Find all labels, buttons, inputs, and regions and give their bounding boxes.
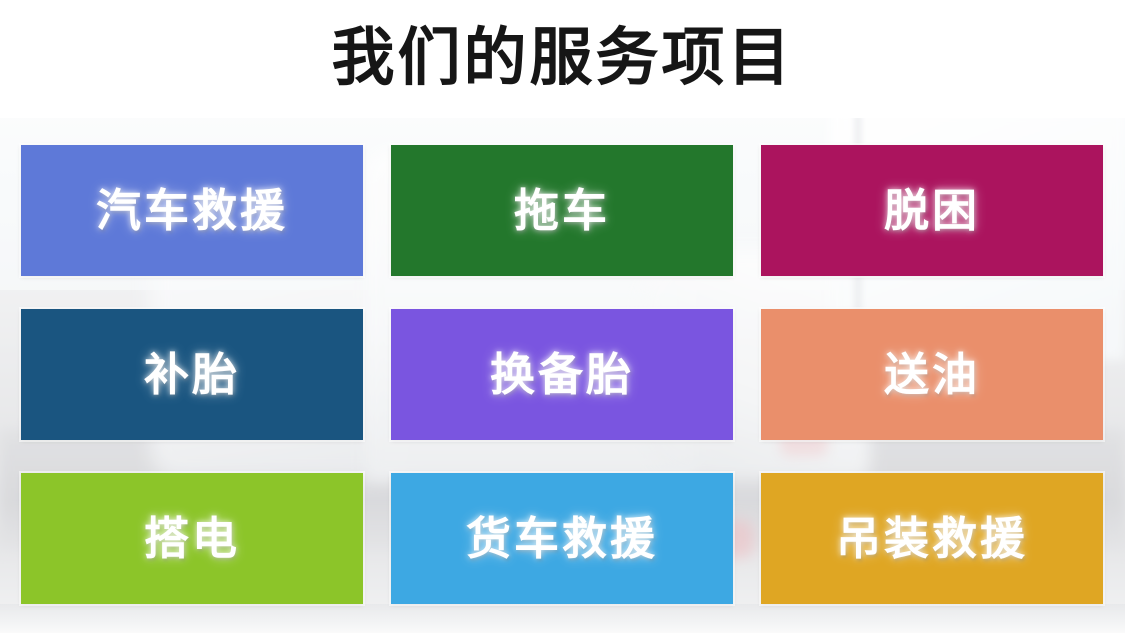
service-tile-label: 拖车	[514, 188, 610, 233]
background-bottom-strip	[0, 604, 1125, 633]
service-tile-label: 吊装救援	[836, 516, 1028, 561]
service-tile-towing[interactable]: 拖车	[391, 145, 733, 276]
service-tile-grid: 汽车救援 拖车 脱困 补胎 换备胎 送油 搭电 货车救援 吊装救援	[21, 145, 1103, 605]
service-tile-label: 货车救援	[466, 516, 658, 561]
service-tile-label: 换备胎	[490, 352, 634, 397]
service-tile-label: 汽车救援	[96, 188, 288, 233]
service-tile-spare-tire-change[interactable]: 换备胎	[391, 309, 733, 440]
page-title: 我们的服务项目	[0, 18, 1125, 98]
service-tile-jump-start[interactable]: 搭电	[21, 473, 363, 604]
service-tile-label: 搭电	[144, 516, 240, 561]
service-tile-fuel-delivery[interactable]: 送油	[761, 309, 1103, 440]
service-tile-crane-rescue[interactable]: 吊装救援	[761, 473, 1103, 604]
service-tile-label: 补胎	[144, 352, 240, 397]
service-tile-truck-rescue[interactable]: 货车救援	[391, 473, 733, 604]
service-tile-label: 送油	[884, 352, 980, 397]
service-tile-label: 脱困	[884, 188, 980, 233]
service-tile-extrication[interactable]: 脱困	[761, 145, 1103, 276]
service-tile-tire-repair[interactable]: 补胎	[21, 309, 363, 440]
service-menu-screen: 我们的服务项目 汽车救援 拖车 脱困 补胎 换备胎 送油 搭电 货车救援 吊装救…	[0, 0, 1125, 633]
service-tile-car-rescue[interactable]: 汽车救援	[21, 145, 363, 276]
